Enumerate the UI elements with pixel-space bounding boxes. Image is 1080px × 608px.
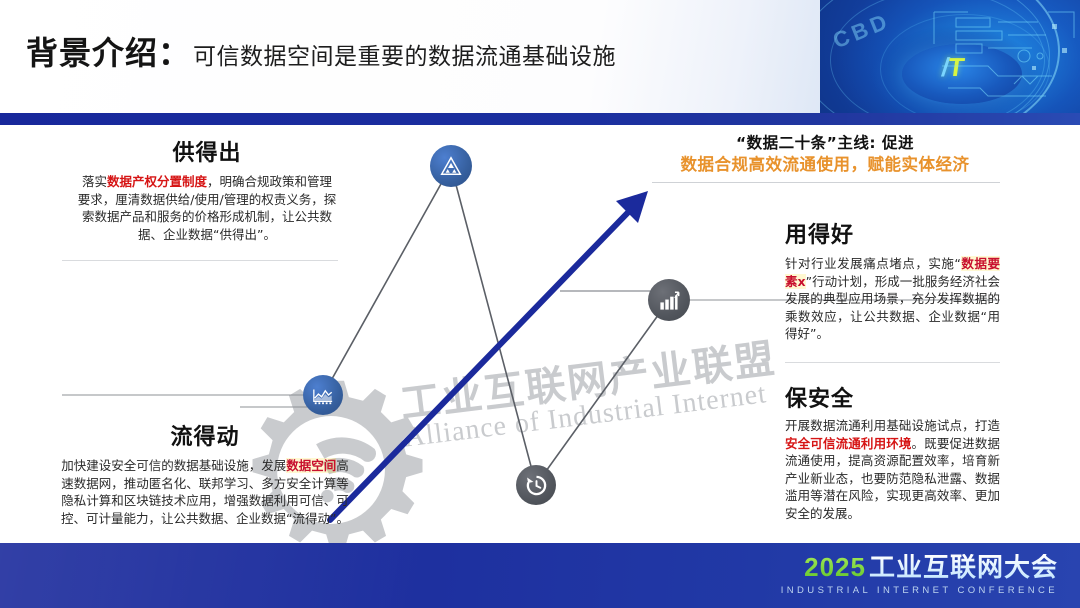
deco-circuit-lines xyxy=(928,4,1078,108)
body-pre: 针对行业发展痛点堵点，实施“ xyxy=(785,256,961,271)
main-message-line2: 数据合规高效流通使用，赋能实体经济 xyxy=(650,154,1000,176)
block-separator-3 xyxy=(785,362,1000,363)
main-message-separator xyxy=(652,182,1000,183)
block-liu-de-dong: 流得动 加快建设安全可信的数据基础设施，发展数据空间高速数据网，推动匿名化、联邦… xyxy=(60,425,350,527)
body-post: ”行动计划，形成一批服务经济社会发展的典型应用场景，充分发挥数据的乘数效应，让公… xyxy=(785,274,1000,342)
block-title: 流得动 xyxy=(60,425,350,451)
block-bao-an-quan: 保安全 开展数据流通利用基础设施试点，打造安全可信流通利用环境。既要促进数据流通… xyxy=(785,387,1000,522)
zigzag-path xyxy=(323,166,669,485)
pyramid-icon xyxy=(440,155,462,177)
slide-header: CBD /T xyxy=(0,0,1080,113)
main-message: “数据二十条”主线: 促进 数据合规高效流通使用，赋能实体经济 xyxy=(650,133,1000,176)
body-highlight: 安全可信流通利用环境 xyxy=(785,436,912,451)
conference-year: 2025 xyxy=(804,553,866,581)
block-yong-de-hao: 用得好 针对行业发展痛点堵点，实施“数据要素x”行动计划，形成一批服务经济社会发… xyxy=(785,223,1000,343)
clock-history-icon xyxy=(525,474,548,497)
block-body: 加快建设安全可信的数据基础设施，发展数据空间高速数据网，推动匿名化、联邦学习、多… xyxy=(60,457,350,527)
page-title-sub: 可信数据空间是重要的数据流通基础设施 xyxy=(193,40,616,74)
block-body: 落实数据产权分置制度，明确合规政策和管理要求，厘清数据供给/使用/管理的权责义务… xyxy=(76,173,338,243)
slide-root: CBD /T xyxy=(0,0,1080,608)
node-line-chart[interactable] xyxy=(303,375,343,415)
header-decoration-graphic: CBD /T xyxy=(820,0,1080,113)
block-separator-1 xyxy=(62,260,338,261)
body-pre: 加快建设安全可信的数据基础设施，发展 xyxy=(61,458,286,473)
conference-logo: 2025 工业互联网大会 INDUSTRIAL INTERNET CONFERE… xyxy=(781,553,1058,597)
block-title: 用得好 xyxy=(785,223,1000,249)
block-body: 开展数据流通利用基础设施试点，打造安全可信流通利用环境。既要促进数据流通使用，提… xyxy=(785,417,1000,522)
node-clock-history[interactable] xyxy=(516,465,556,505)
slide-body: 工业互联网产业联盟 Alliance of Industrial Interne… xyxy=(0,125,1080,543)
node-bar-chart-growth[interactable] xyxy=(648,279,690,321)
line-chart-icon xyxy=(312,384,334,406)
body-highlight: 数据产权分置制度 xyxy=(107,174,207,189)
block-title: 供得出 xyxy=(76,141,338,167)
conference-logo-main: 2025 工业互联网大会 xyxy=(781,553,1058,582)
page-title: 背景介绍： 可信数据空间是重要的数据流通基础设施 xyxy=(26,36,616,74)
conference-name-cn: 工业互联网大会 xyxy=(869,554,1058,582)
body-pre: 开展数据流通利用基础设施试点，打造 xyxy=(785,418,1000,433)
page-title-main: 背景介绍： xyxy=(26,36,191,70)
body-pre: 落实 xyxy=(82,174,107,189)
header-divider-bar xyxy=(0,113,1080,125)
node-pyramid[interactable] xyxy=(430,145,472,187)
growth-arrow xyxy=(330,191,648,520)
block-title: 保安全 xyxy=(785,387,1000,413)
bar-chart-growth-icon xyxy=(658,289,681,312)
slide-footer: 2025 工业互联网大会 INDUSTRIAL INTERNET CONFERE… xyxy=(0,543,1080,608)
block-body: 针对行业发展痛点堵点，实施“数据要素x”行动计划，形成一批服务经济社会发展的典型… xyxy=(785,255,1000,343)
conference-name-en: INDUSTRIAL INTERNET CONFERENCE xyxy=(781,585,1058,597)
body-highlight: 数据空间 xyxy=(286,458,336,473)
main-message-line1: “数据二十条”主线: 促进 xyxy=(650,133,1000,154)
block-gong-de-chu: 供得出 落实数据产权分置制度，明确合规政策和管理要求，厘清数据供给/使用/管理的… xyxy=(76,141,338,243)
